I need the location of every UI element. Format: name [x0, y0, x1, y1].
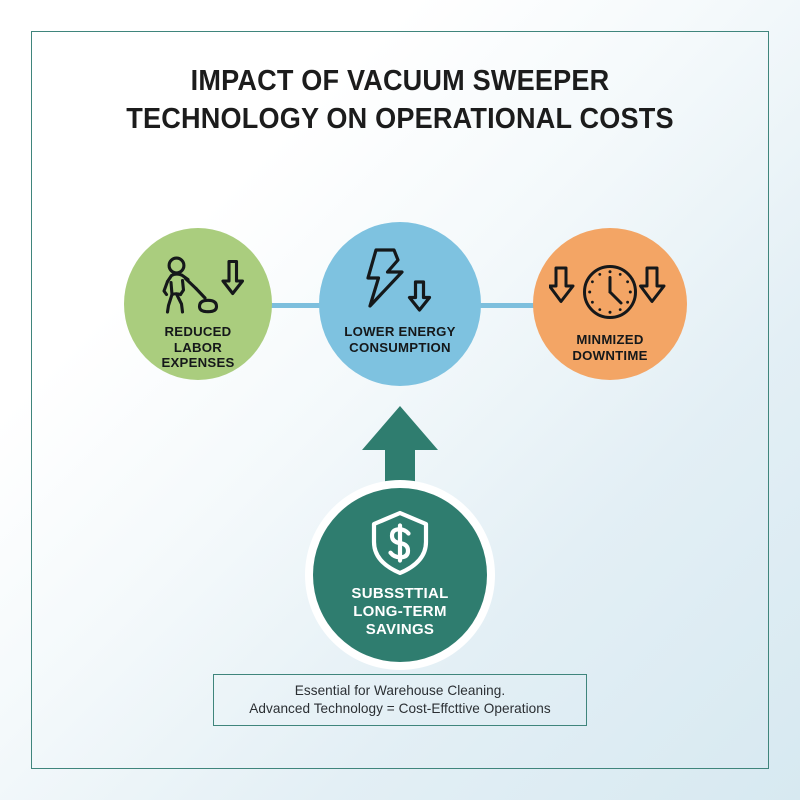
node-label-substantial-long-term-savings: SUBSSTTIAL LONG-TERM SAVINGS — [351, 585, 448, 639]
clock-down-arrows-icon — [549, 264, 671, 322]
node-reduced-labor-expenses[interactable]: REDUCED LABOR EXPENSES — [124, 228, 272, 380]
node-lower-energy-consumption[interactable]: LOWER ENERGY CONSUMPTION — [319, 222, 481, 386]
node-label-reduced-labor-expenses: REDUCED LABOR EXPENSES — [161, 324, 234, 371]
node-label-minmized-downtime: MINMIZED DOWNTIME — [572, 332, 647, 363]
footer-callout-box: Essential for Warehouse Cleaning. Advanc… — [213, 674, 587, 726]
infographic-poster: IMPACT OF VACUUM SWEEPER TECHNOLOGY ON O… — [0, 0, 800, 800]
shield-dollar-icon — [369, 510, 431, 576]
node-icon-wrap — [358, 246, 442, 312]
page-title-line-2: TECHNOLOGY ON OPERATIONAL COSTS — [77, 100, 723, 138]
footer-callout-text: Essential for Warehouse Cleaning. Advanc… — [249, 682, 550, 719]
page-title: IMPACT OF VACUUM SWEEPER TECHNOLOGY ON O… — [77, 62, 723, 138]
node-label-lower-energy-consumption: LOWER ENERGY CONSUMPTION — [344, 324, 455, 355]
node-icon-wrap — [152, 252, 244, 318]
node-icon-wrap — [549, 256, 671, 322]
node-substantial-long-term-savings[interactable]: SUBSSTTIAL LONG-TERM SAVINGS — [313, 488, 487, 662]
node-minmized-downtime[interactable]: MINMIZED DOWNTIME — [533, 228, 687, 380]
page-title-line-1: IMPACT OF VACUUM SWEEPER — [77, 62, 723, 100]
lightning-bolt-down-arrow-icon — [358, 248, 442, 312]
worker-sweeping-down-arrow-icon — [152, 256, 244, 318]
